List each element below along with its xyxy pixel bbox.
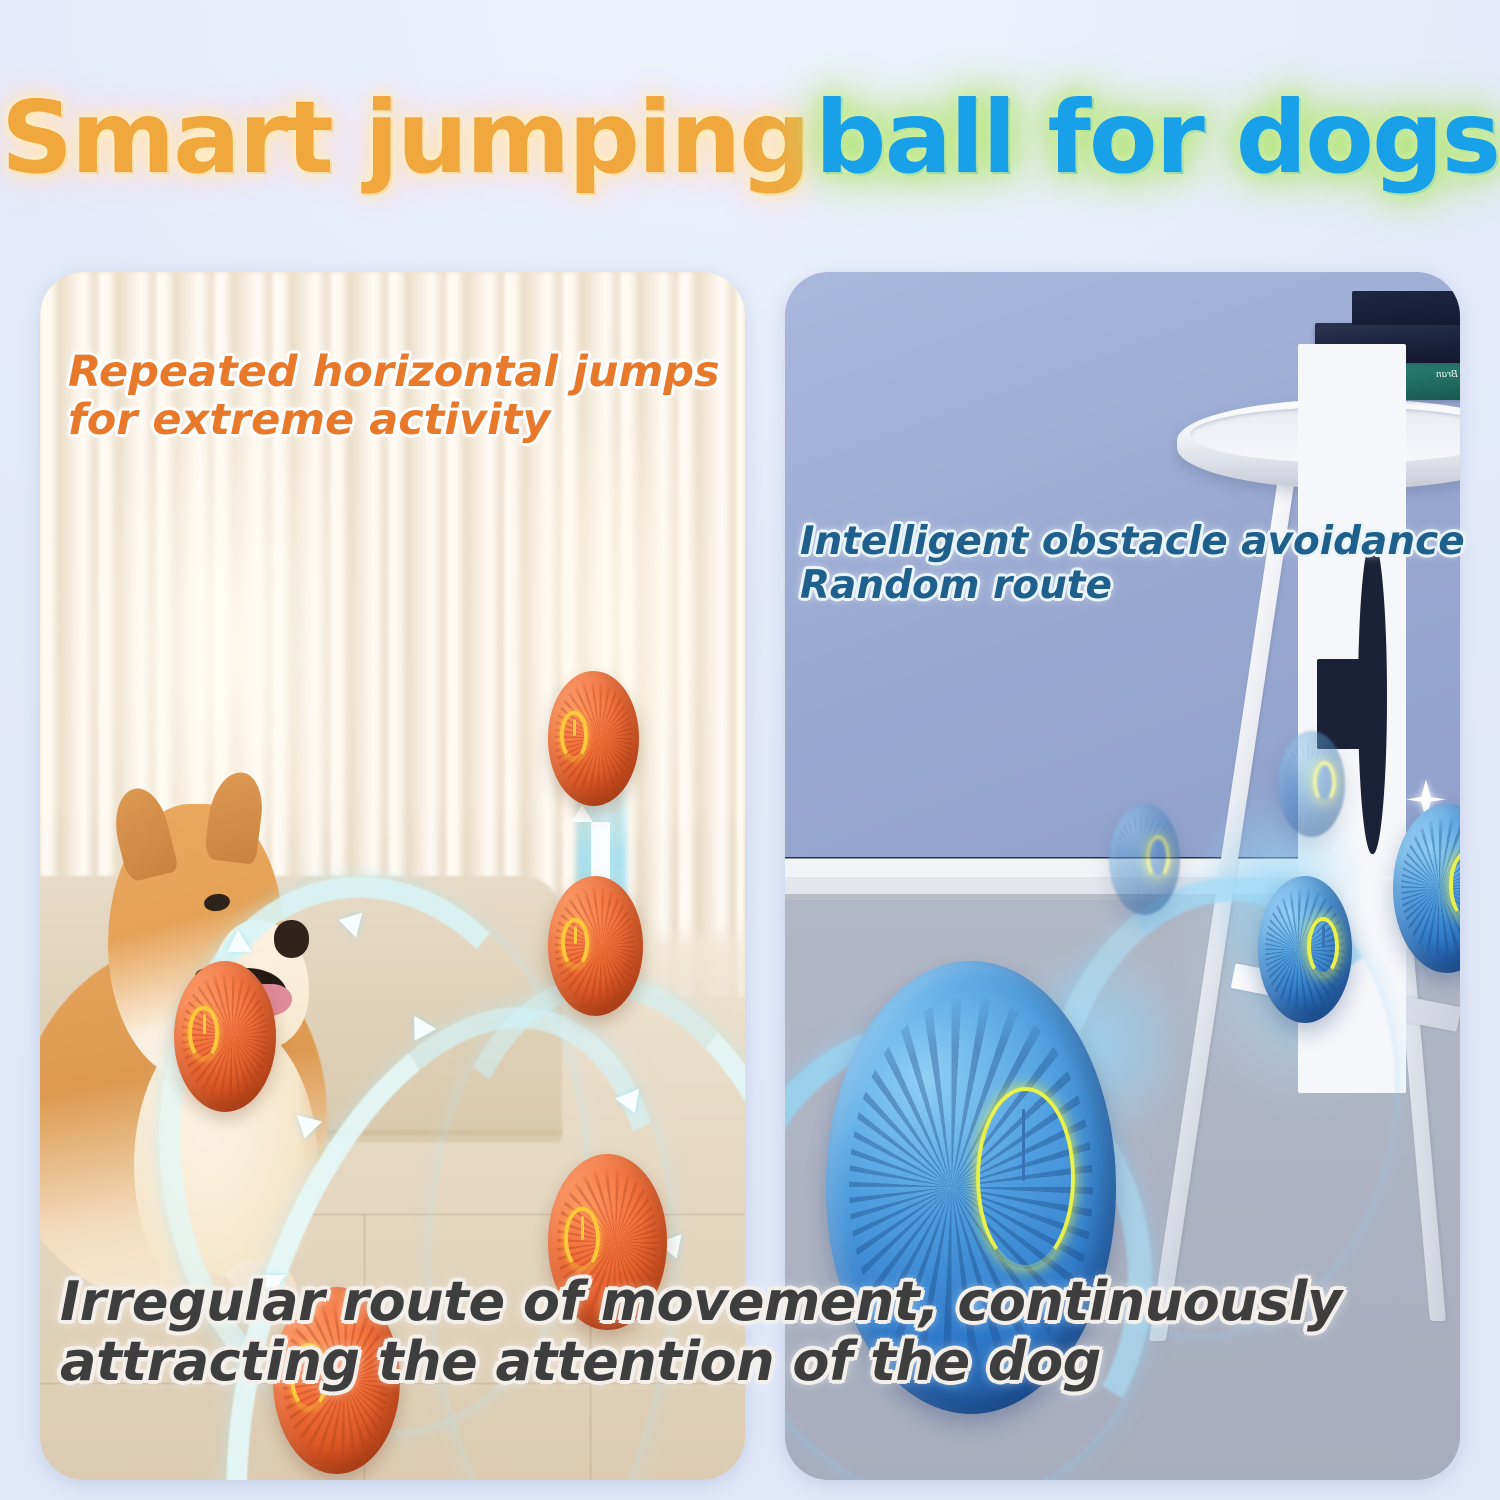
product-ball-orange — [548, 876, 643, 1016]
product-ball-blue-hero — [826, 961, 1116, 1414]
power-button-icon — [188, 1006, 219, 1060]
power-button-icon — [290, 1343, 328, 1410]
power-button-icon — [560, 711, 587, 760]
power-button-icon — [561, 918, 590, 968]
power-button-icon — [1307, 917, 1339, 976]
feature-panel-right: Jadwa Bran JAMES — [785, 272, 1460, 1480]
dog-paw-rear — [169, 1271, 235, 1314]
dog-nose — [274, 920, 309, 957]
product-ball-orange — [548, 671, 640, 806]
power-button-icon — [564, 1207, 600, 1270]
arrow-chevron-icon — [259, 1275, 285, 1296]
book-top — [1352, 291, 1460, 325]
power-button-icon — [976, 1087, 1075, 1268]
right-scene: Jadwa Bran JAMES — [785, 272, 1460, 1480]
product-ball-blue-ghost — [1278, 731, 1346, 837]
left-scene — [40, 272, 745, 1480]
power-button-icon — [1313, 761, 1336, 804]
power-button-icon — [1449, 851, 1460, 919]
product-ball-blue-ghost — [1109, 804, 1180, 915]
product-ball-orange — [548, 1154, 668, 1330]
panel-container: Jadwa Bran JAMES — [0, 0, 1500, 1500]
product-ball-orange — [273, 1287, 400, 1474]
feature-panel-left — [40, 272, 745, 1480]
product-ball-blue — [1258, 876, 1353, 1023]
power-button-icon — [1146, 835, 1170, 879]
book-green-title: Jadwa Bran — [1436, 368, 1460, 380]
product-ball-orange — [174, 961, 276, 1112]
